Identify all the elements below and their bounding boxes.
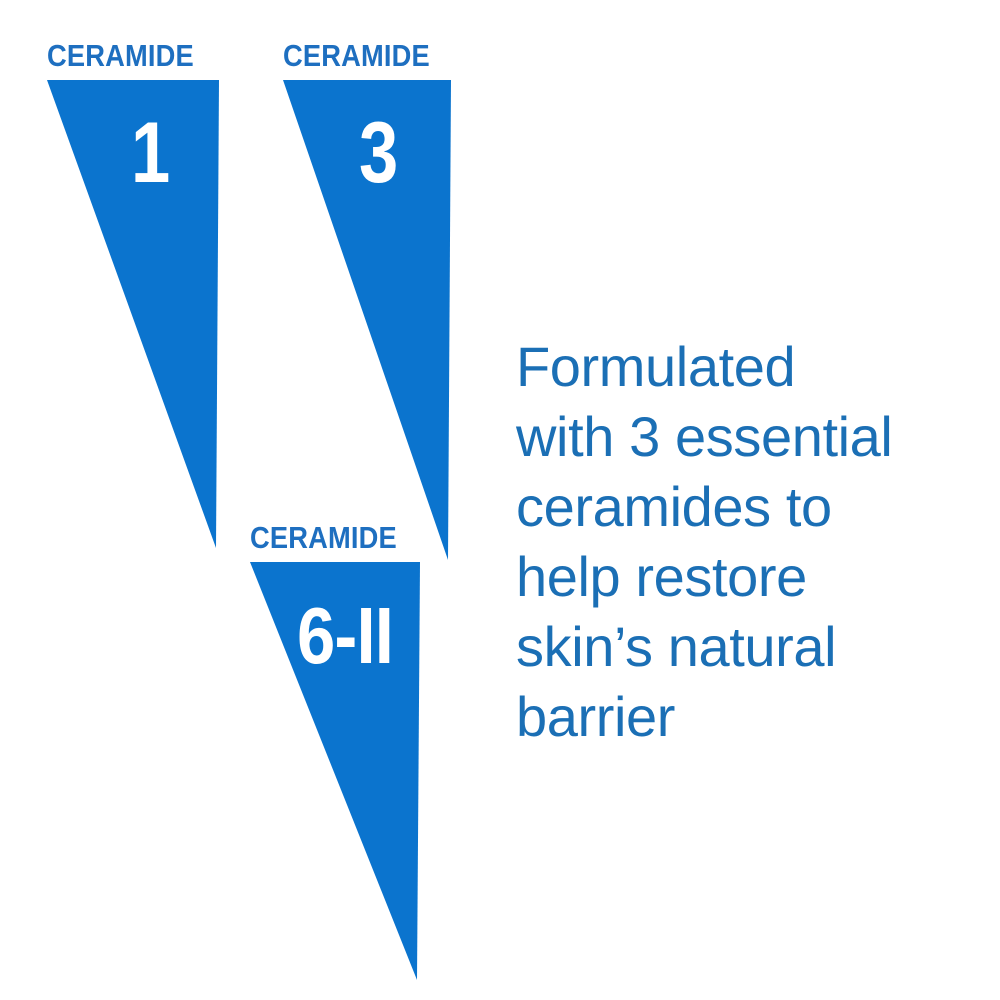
ceramide-number-2: 3 [359, 110, 398, 196]
ceramide-label-1: CERAMIDE [47, 40, 194, 71]
marketing-copy-block: Formulated with 3 essential ceramides to… [516, 332, 956, 752]
ceramide-label-3: CERAMIDE [250, 522, 397, 553]
copy-line: barrier [516, 682, 956, 752]
copy-line: help restore [516, 542, 956, 612]
ceramide-number-3: 6-II [297, 596, 393, 676]
copy-line: Formulated [516, 332, 956, 402]
copy-line: with 3 essential [516, 402, 956, 472]
ceramide-label-2: CERAMIDE [283, 40, 430, 71]
copy-line: ceramides to [516, 472, 956, 542]
copy-line: skin’s natural [516, 612, 956, 682]
ceramide-number-1: 1 [131, 110, 170, 196]
infographic-canvas: CERAMIDE 1 CERAMIDE 3 CERAMIDE 6-II Form… [0, 0, 1000, 1000]
